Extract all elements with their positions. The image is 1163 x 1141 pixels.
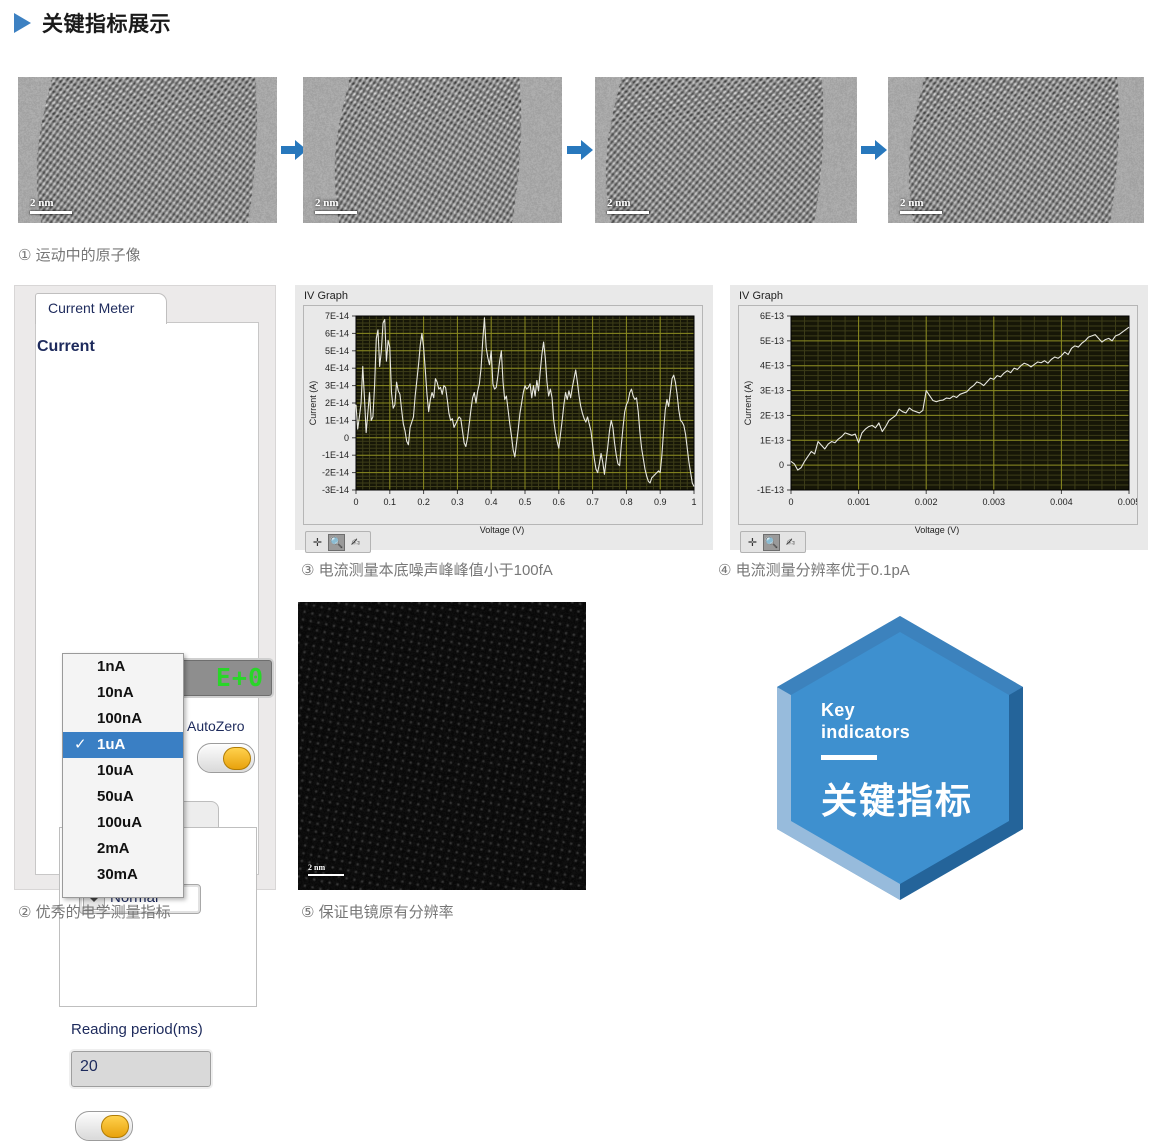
current-range-dropdown[interactable]: 1nA10nA100nA1uA10uA50uA100uA2mA30mA bbox=[62, 653, 184, 898]
scale-bar-label: 2 nm bbox=[607, 197, 631, 209]
svg-text:-3E-14: -3E-14 bbox=[322, 485, 349, 495]
scale-bar-label: 2 nm bbox=[308, 863, 325, 872]
tem-frame-4: 2 nm bbox=[888, 77, 1144, 223]
svg-text:0.1: 0.1 bbox=[384, 497, 397, 507]
svg-text:1: 1 bbox=[691, 497, 696, 507]
svg-text:7E-14: 7E-14 bbox=[325, 311, 349, 321]
svg-text:5E-13: 5E-13 bbox=[760, 336, 784, 346]
svg-text:0: 0 bbox=[344, 433, 349, 443]
scale-bar: 2 nm bbox=[607, 198, 649, 214]
svg-text:0.005: 0.005 bbox=[1118, 497, 1137, 507]
toggle-knob bbox=[223, 747, 251, 770]
reading-period-value: 20 bbox=[80, 1058, 98, 1076]
svg-text:3E-13: 3E-13 bbox=[760, 386, 784, 396]
svg-text:6E-14: 6E-14 bbox=[325, 328, 349, 338]
badge-en-line2: indicators bbox=[821, 722, 973, 744]
badge-cn-title: 关键指标 bbox=[821, 772, 973, 824]
svg-text:-2E-14: -2E-14 bbox=[322, 468, 349, 478]
svg-text:6E-13: 6E-13 bbox=[760, 311, 784, 321]
svg-text:0.2: 0.2 bbox=[417, 497, 430, 507]
svg-text:-1E-13: -1E-13 bbox=[757, 485, 784, 495]
iv-graph-noise: IV Graph 00.10.20.30.40.50.60.70.80.917E… bbox=[295, 285, 713, 550]
scale-bar-label: 2 nm bbox=[900, 197, 924, 209]
tem-image-strip: 2 nm 2 nm 2 nm 2 nm bbox=[0, 77, 1163, 223]
zoom-magnifier-icon[interactable]: 🔍 bbox=[328, 534, 345, 551]
tem-frame-3: 2 nm bbox=[595, 77, 857, 223]
svg-text:2E-14: 2E-14 bbox=[325, 398, 349, 408]
scale-bar-line bbox=[900, 211, 942, 214]
iv-graph-frame: 00.0010.0020.0030.0040.0056E-135E-134E-1… bbox=[738, 305, 1138, 525]
iv-graph-toolbar[interactable]: ✛ 🔍 ✍ bbox=[740, 531, 806, 553]
zoom-magnifier-icon[interactable]: 🔍 bbox=[763, 534, 780, 551]
right-arrow-icon bbox=[567, 140, 593, 160]
scale-bar-line bbox=[308, 874, 344, 876]
right-arrow-icon bbox=[861, 140, 887, 160]
current-readout-value: E+0 bbox=[216, 663, 264, 692]
svg-text:0.8: 0.8 bbox=[620, 497, 633, 507]
badge-divider bbox=[821, 755, 877, 760]
caption-1: ① 运动中的原子像 bbox=[18, 244, 141, 265]
atomic-resolution-image: 2 nm bbox=[298, 602, 586, 890]
pan-hand-icon[interactable]: ✍ bbox=[348, 535, 363, 550]
svg-text:Current (A): Current (A) bbox=[308, 381, 318, 426]
play-triangle-icon bbox=[14, 13, 31, 33]
dropdown-option-100na[interactable]: 100nA bbox=[63, 706, 183, 732]
toggle-knob bbox=[101, 1115, 129, 1138]
crosshair-cursor-icon[interactable]: ✛ bbox=[310, 535, 325, 550]
scale-bar-label: 2 nm bbox=[30, 197, 54, 209]
scale-bar-line bbox=[607, 211, 649, 214]
svg-text:4E-14: 4E-14 bbox=[325, 363, 349, 373]
tab-current-meter[interactable]: Current Meter bbox=[35, 293, 167, 324]
iv-graph-resolution: IV Graph 00.0010.0020.0030.0040.0056E-13… bbox=[730, 285, 1148, 550]
dropdown-option-2ma[interactable]: 2mA bbox=[63, 836, 183, 862]
scale-bar-line bbox=[315, 211, 357, 214]
badge-en-line1: Key bbox=[821, 700, 973, 722]
caption-5: ⑤ 保证电镜原有分辨率 bbox=[301, 901, 454, 922]
iv-graph-title: IV Graph bbox=[739, 290, 783, 302]
svg-text:0.3: 0.3 bbox=[451, 497, 464, 507]
dropdown-option-10na[interactable]: 10nA bbox=[63, 680, 183, 706]
svg-text:-1E-14: -1E-14 bbox=[322, 450, 349, 460]
svg-text:0.9: 0.9 bbox=[654, 497, 667, 507]
current-section-label: Current bbox=[37, 338, 95, 356]
svg-text:0: 0 bbox=[353, 497, 358, 507]
svg-text:3E-14: 3E-14 bbox=[325, 381, 349, 391]
svg-text:0.002: 0.002 bbox=[915, 497, 938, 507]
dropdown-option-10ua[interactable]: 10uA bbox=[63, 758, 183, 784]
iv-graph-toolbar[interactable]: ✛ 🔍 ✍ bbox=[305, 531, 371, 553]
svg-text:Current (A): Current (A) bbox=[743, 381, 753, 426]
svg-text:0.001: 0.001 bbox=[847, 497, 870, 507]
dropdown-option-50ua[interactable]: 50uA bbox=[63, 784, 183, 810]
crosshair-cursor-icon[interactable]: ✛ bbox=[745, 535, 760, 550]
svg-text:0.4: 0.4 bbox=[485, 497, 498, 507]
reading-period-label: Reading period(ms) bbox=[71, 1021, 203, 1038]
caption-2: ② 优秀的电学测量指标 bbox=[18, 901, 171, 922]
svg-text:2E-13: 2E-13 bbox=[760, 410, 784, 420]
badge-text-block: Key indicators 关键指标 bbox=[821, 700, 973, 824]
pan-hand-icon[interactable]: ✍ bbox=[783, 535, 798, 550]
tem-frame-2: 2 nm bbox=[303, 77, 562, 223]
dropdown-option-30ma[interactable]: 30mA bbox=[63, 862, 183, 888]
caption-4: ④ 电流测量分辨率优于0.1pA bbox=[718, 559, 910, 580]
key-indicators-badge: Key indicators 关键指标 bbox=[765, 608, 1035, 908]
svg-text:0.6: 0.6 bbox=[553, 497, 566, 507]
reading-period-input[interactable]: 20 bbox=[69, 1049, 213, 1089]
dropdown-option-100ua[interactable]: 100uA bbox=[63, 810, 183, 836]
iv-graph-plot: 00.0010.0020.0030.0040.0056E-135E-134E-1… bbox=[739, 306, 1137, 524]
page-title: 关键指标展示 bbox=[42, 8, 171, 38]
caption-3: ③ 电流测量本底噪声峰峰值小于100fA bbox=[301, 559, 553, 580]
scale-bar: 2 nm bbox=[900, 198, 942, 214]
scale-bar: 2 nm bbox=[315, 198, 357, 214]
svg-text:5E-14: 5E-14 bbox=[325, 346, 349, 356]
scale-bar-line bbox=[30, 211, 72, 214]
scale-bar: 2 nm bbox=[30, 198, 72, 214]
svg-text:0.5: 0.5 bbox=[519, 497, 532, 507]
svg-text:0.7: 0.7 bbox=[586, 497, 599, 507]
current-meter-panel[interactable]: Current Meter Current E+0 AutoZero ced d… bbox=[14, 285, 276, 890]
iv-graph-frame: 00.10.20.30.40.50.60.70.80.917E-146E-145… bbox=[303, 305, 703, 525]
iv-graph-plot: 00.10.20.30.40.50.60.70.80.917E-146E-145… bbox=[304, 306, 702, 524]
tem-frame-1: 2 nm bbox=[18, 77, 277, 223]
svg-text:1E-13: 1E-13 bbox=[760, 435, 784, 445]
dropdown-option-1ua[interactable]: 1uA bbox=[63, 732, 183, 758]
autozero-label: AutoZero bbox=[187, 718, 245, 734]
svg-text:1E-14: 1E-14 bbox=[325, 415, 349, 425]
svg-text:0: 0 bbox=[788, 497, 793, 507]
tab-current-meter-label: Current Meter bbox=[48, 300, 134, 316]
svg-text:0.004: 0.004 bbox=[1050, 497, 1073, 507]
scale-bar-label: 2 nm bbox=[315, 197, 339, 209]
svg-text:0: 0 bbox=[779, 460, 784, 470]
svg-text:0.003: 0.003 bbox=[983, 497, 1006, 507]
svg-text:4E-13: 4E-13 bbox=[760, 361, 784, 371]
reading-run-toggle[interactable] bbox=[75, 1111, 133, 1141]
iv-graph-title: IV Graph bbox=[304, 290, 348, 302]
autozero-toggle[interactable] bbox=[197, 743, 255, 773]
page-header: 关键指标展示 bbox=[14, 8, 171, 38]
atomic-lattice-canvas bbox=[298, 602, 586, 890]
scale-bar: 2 nm bbox=[308, 864, 344, 876]
dropdown-option-1na[interactable]: 1nA bbox=[63, 654, 183, 680]
